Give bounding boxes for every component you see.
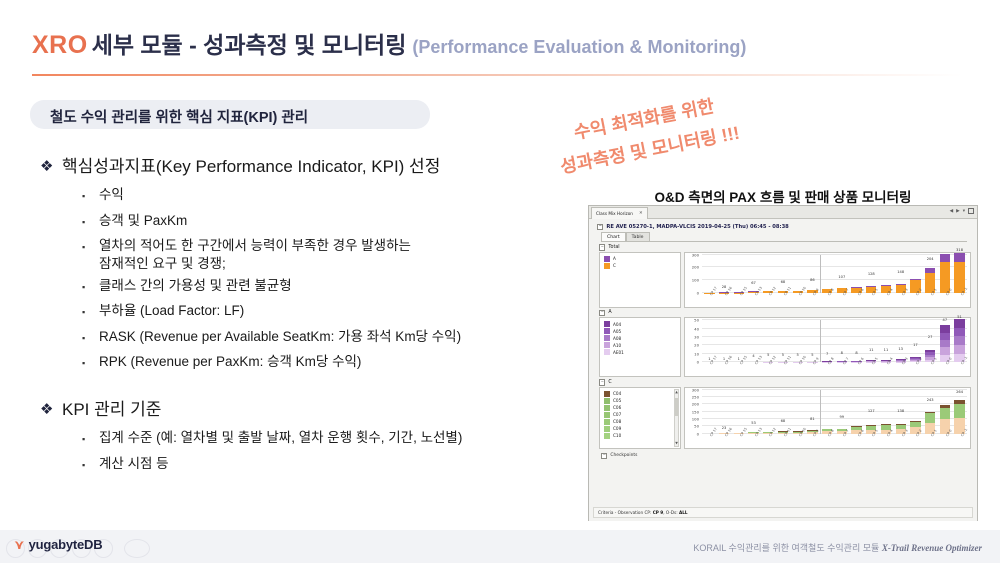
list-item: ▪ 집계 수준 (예: 열차별 및 출발 날짜, 열차 운행 횟수, 기간, 노… bbox=[82, 429, 585, 450]
expand-collapse-icon[interactable]: − bbox=[597, 224, 603, 230]
legend-item[interactable]: C08 bbox=[604, 419, 678, 425]
x-label-slot: CP 10 bbox=[790, 434, 805, 448]
bar-data-label: 11 bbox=[869, 348, 874, 352]
list-item-text: 승객 및 PaxKm bbox=[99, 212, 187, 230]
bar-data-label: 47 bbox=[943, 318, 948, 322]
bar[interactable]: 51 bbox=[954, 319, 964, 362]
more-options-icon bbox=[124, 539, 150, 558]
bar-data-label: 67 bbox=[751, 281, 756, 285]
bar-data-label: 138 bbox=[897, 409, 904, 413]
square-bullet-icon: ▪ bbox=[82, 353, 99, 374]
list-item: ▪ 열차의 적어도 한 구간에서 능력이 부족한 경우 발생하는 잠재적인 요구… bbox=[82, 237, 585, 272]
bar-slot[interactable]: 8 bbox=[834, 320, 849, 362]
legend-label: C04 bbox=[613, 391, 621, 396]
chart-legend: A04A05A08A10AE01 bbox=[599, 317, 681, 377]
expand-collapse-icon[interactable]: − bbox=[599, 244, 605, 250]
legend-label: A bbox=[613, 256, 616, 261]
chart-legend: ▲ ▼ C04C05C06C07C08C09C10 bbox=[599, 387, 681, 449]
chart-block-header: − C bbox=[599, 379, 971, 385]
legend-item[interactable]: A10 bbox=[604, 342, 678, 348]
legend-label: A08 bbox=[613, 336, 621, 341]
bar-data-label: 204 bbox=[927, 257, 934, 261]
bar-segment bbox=[925, 413, 935, 424]
tab-label: Class Mix Horizon bbox=[596, 208, 633, 219]
legend-item[interactable]: AE01 bbox=[604, 349, 678, 355]
bar-data-label: 7 bbox=[826, 352, 828, 356]
bar-segment bbox=[940, 333, 950, 340]
chart-title: A bbox=[608, 310, 611, 315]
x-label-slot: CP 1 bbox=[923, 293, 938, 307]
bar-slot[interactable]: 13 bbox=[893, 320, 908, 362]
legend-label: C09 bbox=[613, 426, 621, 431]
plot-area: 1114555578811111317274751 bbox=[702, 320, 967, 362]
plot-area: 28676886107128148204318 bbox=[702, 255, 967, 293]
x-label-slot: CP 3 bbox=[893, 434, 908, 448]
brand-xro: XRO bbox=[32, 31, 88, 59]
legend-swatch-icon bbox=[604, 335, 610, 341]
header-divider bbox=[32, 74, 962, 76]
y-axis-tick: 50 bbox=[694, 424, 699, 429]
legend-label: C08 bbox=[613, 419, 621, 424]
bar-slot[interactable] bbox=[879, 390, 894, 434]
criteria-od-value: ALL bbox=[679, 510, 688, 515]
chart-legend: AC bbox=[599, 252, 681, 308]
bar-slot[interactable]: 128 bbox=[864, 255, 879, 293]
bar-data-label: 148 bbox=[897, 270, 904, 274]
bullet-sublist: ▪ 집계 수준 (예: 열차별 및 출발 날짜, 열차 운행 횟수, 기간, 노… bbox=[82, 429, 585, 476]
y-axis: 050100150200250300 bbox=[685, 388, 701, 448]
legend-item[interactable]: A04 bbox=[604, 321, 678, 327]
legend-label: C07 bbox=[613, 412, 621, 417]
bar[interactable]: 318 bbox=[954, 253, 964, 293]
bar-slot[interactable] bbox=[820, 255, 835, 293]
bar-data-label: 51 bbox=[957, 315, 962, 319]
x-label-slot: CP 12 bbox=[761, 362, 776, 376]
bar-data-label: 68 bbox=[781, 419, 786, 423]
legend-item[interactable]: C07 bbox=[604, 412, 678, 418]
x-label-slot: CP 0 bbox=[938, 362, 953, 376]
plot-divider bbox=[820, 390, 821, 434]
bar-data-label: 23 bbox=[722, 426, 727, 430]
square-bullet-icon: ▪ bbox=[82, 186, 99, 207]
legend-swatch-icon bbox=[604, 398, 610, 404]
legend-swatch-icon bbox=[604, 426, 610, 432]
y-axis-tick: 30 bbox=[694, 334, 699, 339]
bar-series: 2353688199127138243264 bbox=[702, 390, 967, 434]
x-label-slot: CP 9 bbox=[805, 293, 820, 307]
y-axis-tick: 100 bbox=[692, 278, 699, 283]
bar-segment bbox=[940, 254, 950, 262]
list-item: ▪ 승객 및 PaxKm bbox=[82, 212, 585, 233]
bar-slot[interactable]: 86 bbox=[805, 255, 820, 293]
bar-segment bbox=[954, 328, 964, 337]
y-axis-tick: 40 bbox=[694, 326, 699, 331]
bar-series: 1114555578811111317274751 bbox=[702, 320, 967, 362]
x-label-slot: CP 8 bbox=[820, 362, 835, 376]
bar-slot[interactable] bbox=[908, 390, 923, 434]
record-header: − RE AVE 05270-1, MADPA-VLCIS 2019-04-25… bbox=[597, 224, 973, 230]
slide-header: XRO세부 모듈 - 성과측정 및 모니터링(Performance Evalu… bbox=[32, 26, 746, 60]
bar-slot[interactable]: 47 bbox=[938, 320, 953, 362]
list-item: ▪ 부하율 (Load Factor: LF) bbox=[82, 302, 585, 323]
legend-swatch-icon bbox=[604, 256, 610, 262]
x-label-slot: CP 2 bbox=[908, 362, 923, 376]
legend-swatch-icon bbox=[604, 328, 610, 334]
x-label-slot: CP 8 bbox=[820, 434, 835, 448]
chevron-down-icon[interactable]: ▾ bbox=[963, 209, 965, 214]
criteria-bar: Criteria - Observation CP: CP 9, O-Ds: A… bbox=[593, 507, 973, 518]
legend-item[interactable]: C05 bbox=[604, 398, 678, 404]
maximize-icon[interactable] bbox=[968, 208, 974, 214]
bar-data-label: 127 bbox=[868, 409, 875, 413]
x-label-slot: CP 7 bbox=[834, 434, 849, 448]
bar-segment bbox=[940, 340, 950, 347]
prev-arrow-icon[interactable]: ◀ bbox=[950, 209, 954, 214]
criteria-cp-value: CP 9 bbox=[653, 510, 664, 515]
list-item-text: 집계 수준 (예: 열차별 및 출발 날짜, 열차 운행 횟수, 기간, 노선별… bbox=[99, 429, 462, 447]
criteria-od-label: , O-Ds: bbox=[663, 510, 677, 515]
bar-segment bbox=[940, 325, 950, 332]
list-item: ▪ 수익 bbox=[82, 186, 585, 207]
bar-segment bbox=[940, 408, 950, 420]
chart-title: Total bbox=[608, 245, 619, 250]
y-axis-tick: 0 bbox=[697, 431, 699, 436]
x-label-slot: CP 11 bbox=[776, 293, 791, 307]
bar-data-label: 5 bbox=[797, 353, 799, 357]
scroll-up-icon[interactable]: ▲ bbox=[675, 390, 678, 395]
chart-canvas[interactable]: 010203040501114555578811111317274751CP 1… bbox=[684, 317, 971, 377]
legend-item[interactable]: A05 bbox=[604, 328, 678, 334]
screenshot-caption: O&D 측면의 PAX 흐름 및 판매 상품 모니터링 bbox=[588, 186, 978, 206]
slide-footer: ⋎ yugabyteDB KORAIL 수익관리를 위한 여객철도 수익관리 모… bbox=[0, 530, 1000, 563]
list-item-text: 부하율 (Load Factor: LF) bbox=[99, 302, 244, 320]
bullet-content: ❖ 핵심성과지표(Key Performance Indicator, KPI)… bbox=[40, 145, 585, 476]
list-item-text: RPK (Revenue per PaxKm: 승객 Km당 수익) bbox=[99, 353, 361, 371]
bar-data-label: 53 bbox=[751, 421, 756, 425]
bar-data-label: 318 bbox=[956, 248, 963, 252]
legend-item[interactable]: A bbox=[604, 256, 678, 262]
bar-data-label: 107 bbox=[838, 275, 845, 279]
bar-data-label: 8 bbox=[841, 351, 843, 355]
window-tab-bar: Class Mix Horizon ✕ ◀ ▶ ▾ bbox=[589, 206, 977, 219]
list-item-text: 수익 bbox=[99, 186, 124, 204]
footer-caption: KORAIL 수익관리를 위한 여객철도 수익관리 모듈 X-Trail Rev… bbox=[693, 541, 982, 554]
x-axis-labels: CP 17CP 16CP 15CP 13CP 12CP 11CP 10CP 9C… bbox=[702, 362, 967, 376]
bar-series: 28676886107128148204318 bbox=[702, 255, 967, 293]
x-label-slot: CP 6 bbox=[849, 293, 864, 307]
x-label-slot: CP 9 bbox=[805, 362, 820, 376]
view-tabs: Chart Table bbox=[601, 232, 973, 241]
x-label-slot: CP 12 bbox=[761, 293, 776, 307]
bar-slot[interactable] bbox=[908, 255, 923, 293]
x-label-slot: CP 8 bbox=[820, 293, 835, 307]
bar-data-label: 128 bbox=[868, 272, 875, 276]
x-label-slot: CP 5 bbox=[864, 362, 879, 376]
x-label-slot: CP -1 bbox=[952, 293, 967, 307]
y-axis-tick: 300 bbox=[692, 387, 699, 392]
legend-swatch-icon bbox=[604, 349, 610, 355]
x-axis-labels: CP 17CP 16CP 15CP 13CP 12CP 11CP 10CP 9C… bbox=[702, 293, 967, 307]
x-label-slot: CP 5 bbox=[864, 293, 879, 307]
bar-segment bbox=[940, 347, 950, 354]
window-body: − RE AVE 05270-1, MADPA-VLCIS 2019-04-25… bbox=[589, 219, 977, 521]
x-label-slot: CP 15 bbox=[731, 362, 746, 376]
x-label-slot: CP 10 bbox=[790, 293, 805, 307]
x-label-slot: CP 3 bbox=[893, 362, 908, 376]
x-label-slot: CP -1 bbox=[952, 434, 967, 448]
bar-segment bbox=[954, 345, 964, 354]
tab-table[interactable]: Table bbox=[626, 232, 650, 241]
bar-data-label: 4 bbox=[752, 354, 754, 358]
criteria-prefix: Criteria - Observation CP: bbox=[598, 510, 651, 515]
x-label-slot: CP 12 bbox=[761, 434, 776, 448]
x-label-slot: CP 7 bbox=[834, 293, 849, 307]
bar-slot[interactable]: 99 bbox=[834, 390, 849, 434]
x-label-slot: CP 2 bbox=[908, 434, 923, 448]
bar-data-label: 17 bbox=[913, 343, 918, 347]
slide: XRO세부 모듈 - 성과측정 및 모니터링(Performance Evalu… bbox=[0, 0, 1000, 563]
x-label-slot: CP 17 bbox=[702, 434, 717, 448]
legend-label: C06 bbox=[613, 405, 621, 410]
close-icon[interactable]: ✕ bbox=[639, 208, 643, 219]
x-label-slot: CP 15 bbox=[731, 293, 746, 307]
square-bullet-icon: ▪ bbox=[82, 277, 99, 298]
bar-segment bbox=[954, 404, 964, 418]
bullet-heading-text: KPI 관리 기준 bbox=[62, 398, 161, 422]
bar-slot[interactable]: 7 bbox=[820, 320, 835, 362]
y-axis-tick: 300 bbox=[692, 252, 699, 257]
legend-swatch-icon bbox=[604, 433, 610, 439]
y-axis-tick: 0 bbox=[697, 360, 699, 365]
legend-item[interactable]: A08 bbox=[604, 335, 678, 341]
x-label-slot: CP 6 bbox=[849, 362, 864, 376]
bar-data-label: 5 bbox=[782, 353, 784, 357]
legend-label: A10 bbox=[613, 343, 621, 348]
legend-item[interactable]: C04 bbox=[604, 391, 678, 397]
x-label-slot: CP 4 bbox=[879, 362, 894, 376]
x-label-slot: CP 4 bbox=[879, 434, 894, 448]
bar-data-label: 5 bbox=[767, 353, 769, 357]
y-axis-tick: 200 bbox=[692, 402, 699, 407]
bar-slot[interactable] bbox=[849, 390, 864, 434]
bullet-sublist: ▪ 수익 ▪ 승객 및 PaxKm ▪ 열차의 적어도 한 구간에서 능력이 부… bbox=[82, 186, 585, 374]
bar-slot[interactable]: 107 bbox=[834, 255, 849, 293]
x-label-slot: CP 6 bbox=[849, 434, 864, 448]
bar-slot[interactable]: 8 bbox=[849, 320, 864, 362]
list-item: ▪ 계산 시점 등 bbox=[82, 455, 585, 476]
bar-slot[interactable]: 127 bbox=[864, 390, 879, 434]
bar-data-label: 5 bbox=[811, 353, 813, 357]
plot-area: 2353688199127138243264 bbox=[702, 390, 967, 434]
bullet-group-heading: ❖ 핵심성과지표(Key Performance Indicator, KPI)… bbox=[40, 155, 585, 179]
plot-divider bbox=[820, 320, 821, 362]
legend-label: C05 bbox=[613, 398, 621, 403]
x-label-slot: CP 13 bbox=[746, 362, 761, 376]
diamond-bullet-icon: ❖ bbox=[40, 398, 62, 422]
header-title-ko: 세부 모듈 - 성과측정 및 모니터링 bbox=[92, 32, 407, 58]
chart-block-header: − A bbox=[599, 310, 971, 316]
x-label-slot: CP 13 bbox=[746, 434, 761, 448]
chart-block-total: − Total AC 01002003002867688610712814820… bbox=[599, 244, 971, 307]
bar-data-label: 86 bbox=[810, 278, 815, 282]
expand-collapse-icon[interactable]: − bbox=[601, 453, 607, 459]
scrollbar-thumb[interactable] bbox=[675, 398, 678, 416]
bullet-heading-text: 핵심성과지표(Key Performance Indicator, KPI) 선… bbox=[62, 155, 440, 179]
legend-label: C bbox=[613, 263, 616, 268]
next-arrow-icon[interactable]: ▶ bbox=[956, 209, 960, 214]
section-band-label: 철도 수익 관리를 위한 핵심 지표(KPI) 관리 bbox=[50, 106, 308, 127]
bar-slot[interactable] bbox=[938, 390, 953, 434]
y-axis-tick: 150 bbox=[692, 409, 699, 414]
square-bullet-icon: ▪ bbox=[82, 212, 99, 233]
bar-slot[interactable]: 204 bbox=[923, 255, 938, 293]
list-item: ▪ RPK (Revenue per PaxKm: 승객 Km당 수익) bbox=[82, 353, 585, 374]
bar-data-label: 8 bbox=[855, 351, 857, 355]
legend-item[interactable]: C10 bbox=[604, 433, 678, 439]
bar-data-label: 99 bbox=[840, 415, 845, 419]
bar-data-label: 13 bbox=[898, 347, 903, 351]
chart-block-a: − A A04A05A08A10AE01 0102030405011145555… bbox=[599, 310, 971, 377]
checkpoints-row: − Checkpoints bbox=[601, 453, 973, 459]
x-label-slot: CP 9 bbox=[805, 434, 820, 448]
y-axis: 01020304050 bbox=[685, 318, 701, 376]
bar-slot[interactable]: 11 bbox=[864, 320, 879, 362]
bar-slot[interactable]: 81 bbox=[805, 390, 820, 434]
x-label-slot: CP 17 bbox=[702, 362, 717, 376]
x-label-slot: CP -1 bbox=[952, 362, 967, 376]
tab-chart[interactable]: Chart bbox=[601, 232, 626, 241]
yugabyte-mark-icon: ⋎ bbox=[14, 538, 25, 551]
legend-swatch-icon bbox=[604, 263, 610, 269]
legend-label: AE01 bbox=[613, 350, 624, 355]
bar-slot[interactable]: 27 bbox=[923, 320, 938, 362]
x-label-slot: CP 1 bbox=[923, 362, 938, 376]
legend-label: A05 bbox=[613, 329, 621, 334]
y-axis: 0100200300 bbox=[685, 253, 701, 307]
chart-row: A04A05A08A10AE01 01020304050111455557881… bbox=[599, 317, 971, 377]
list-item-text: RASK (Revenue per Available SeatKm: 가용 좌… bbox=[99, 328, 461, 346]
bar-slot[interactable]: 17 bbox=[908, 320, 923, 362]
legend-label: A04 bbox=[613, 322, 621, 327]
square-bullet-icon: ▪ bbox=[82, 429, 99, 450]
list-item-text: 열차의 적어도 한 구간에서 능력이 부족한 경우 발생하는 잠재적인 요구 및… bbox=[99, 237, 411, 272]
x-label-slot: CP 7 bbox=[834, 362, 849, 376]
chart-canvas[interactable]: 010020030028676886107128148204318CP 17CP… bbox=[684, 252, 971, 308]
tab-class-mix-horizon[interactable]: Class Mix Horizon ✕ bbox=[591, 207, 648, 219]
yugabyte-logo: ⋎ yugabyteDB bbox=[14, 537, 102, 552]
x-label-slot: CP 5 bbox=[864, 434, 879, 448]
bar-data-label: 11 bbox=[884, 348, 889, 352]
x-label-slot: CP 2 bbox=[908, 293, 923, 307]
chart-title: C bbox=[608, 380, 611, 385]
list-item-text: 계산 시점 등 bbox=[99, 455, 169, 473]
bar-segment bbox=[954, 253, 964, 262]
chart-row: ▲ ▼ C04C05C06C07C08C09C10 05010015020025… bbox=[599, 387, 971, 449]
spacer bbox=[40, 374, 585, 388]
x-label-slot: CP 15 bbox=[731, 434, 746, 448]
header-title-en: (Performance Evaluation & Monitoring) bbox=[412, 37, 746, 57]
y-axis-tick: 250 bbox=[692, 394, 699, 399]
chart-canvas[interactable]: 0501001502002503002353688199127138243264… bbox=[684, 387, 971, 449]
expand-collapse-icon[interactable]: − bbox=[599, 379, 605, 385]
bar-slot[interactable] bbox=[820, 390, 835, 434]
bar[interactable]: 264 bbox=[954, 395, 964, 434]
legend-swatch-icon bbox=[604, 391, 610, 397]
bar-slot[interactable] bbox=[938, 255, 953, 293]
x-label-slot: CP 16 bbox=[717, 434, 732, 448]
application-window: Class Mix Horizon ✕ ◀ ▶ ▾ − RE AVE 05270… bbox=[588, 205, 978, 521]
bar-slot[interactable]: 138 bbox=[893, 390, 908, 434]
legend-item[interactable]: C06 bbox=[604, 405, 678, 411]
chart-block-header: − Total bbox=[599, 244, 971, 250]
y-axis-tick: 50 bbox=[694, 318, 699, 323]
square-bullet-icon: ▪ bbox=[82, 237, 99, 258]
square-bullet-icon: ▪ bbox=[82, 328, 99, 349]
scroll-down-icon[interactable]: ▼ bbox=[675, 441, 678, 446]
bullet-group-heading: ❖ KPI 관리 기준 bbox=[40, 398, 585, 422]
legend-swatch-icon bbox=[604, 321, 610, 327]
legend-swatch-icon bbox=[604, 419, 610, 425]
plot-divider bbox=[820, 255, 821, 293]
y-axis-tick: 200 bbox=[692, 265, 699, 270]
bar-data-label: 68 bbox=[781, 280, 786, 284]
square-bullet-icon: ▪ bbox=[82, 455, 99, 476]
square-bullet-icon: ▪ bbox=[82, 302, 99, 323]
bar-segment bbox=[954, 336, 964, 345]
bar-slot[interactable]: 5 bbox=[805, 320, 820, 362]
bar-data-label: 27 bbox=[928, 335, 933, 339]
y-axis-tick: 10 bbox=[694, 351, 699, 356]
legend-item[interactable]: C bbox=[604, 263, 678, 269]
x-label-slot: CP 11 bbox=[776, 434, 791, 448]
footer-caption-en: X-Trail Revenue Optimizer bbox=[882, 543, 982, 553]
x-label-slot: CP 0 bbox=[938, 434, 953, 448]
bar-slot[interactable]: 11 bbox=[879, 320, 894, 362]
bar-slot[interactable]: 243 bbox=[923, 390, 938, 434]
chart-block-c: − C ▲ ▼ C04C05C06C07C08C09C10 0501001502… bbox=[599, 379, 971, 448]
legend-swatch-icon bbox=[604, 405, 610, 411]
bar-slot[interactable] bbox=[879, 255, 894, 293]
list-item: ▪ 클래스 간의 가용성 및 관련 불균형 bbox=[82, 277, 585, 298]
section-band: 철도 수익 관리를 위한 핵심 지표(KPI) 관리 bbox=[30, 100, 430, 129]
x-axis-labels: CP 17CP 16CP 15CP 13CP 12CP 11CP 10CP 9C… bbox=[702, 434, 967, 448]
x-label-slot: CP 10 bbox=[790, 362, 805, 376]
y-axis-tick: 100 bbox=[692, 416, 699, 421]
legend-item[interactable]: C09 bbox=[604, 426, 678, 432]
logo-text: yugabyteDB bbox=[29, 537, 103, 552]
y-axis-tick: 20 bbox=[694, 343, 699, 348]
bar-data-label: 264 bbox=[956, 390, 963, 394]
list-item: ▪ RASK (Revenue per Available SeatKm: 가용… bbox=[82, 328, 585, 349]
y-axis-tick: 0 bbox=[697, 290, 699, 295]
list-item-text: 클래스 간의 가용성 및 관련 불균형 bbox=[99, 277, 292, 295]
window-controls[interactable]: ◀ ▶ ▾ bbox=[950, 208, 974, 214]
x-label-slot: CP 0 bbox=[938, 293, 953, 307]
x-label-slot: CP 1 bbox=[923, 434, 938, 448]
bar-segment bbox=[954, 319, 964, 328]
legend-scrollbar[interactable]: ▲ ▼ bbox=[674, 389, 679, 447]
expand-collapse-icon[interactable]: − bbox=[599, 310, 605, 316]
legend-label: C10 bbox=[613, 433, 621, 438]
x-label-slot: CP 11 bbox=[776, 362, 791, 376]
bar-data-label: 28 bbox=[722, 285, 727, 289]
x-label-slot: CP 16 bbox=[717, 362, 732, 376]
chart-row: AC 010020030028676886107128148204318CP 1… bbox=[599, 252, 971, 308]
x-label-slot: CP 16 bbox=[717, 293, 732, 307]
x-label-slot: CP 13 bbox=[746, 293, 761, 307]
legend-swatch-icon bbox=[604, 342, 610, 348]
diamond-bullet-icon: ❖ bbox=[40, 155, 62, 179]
